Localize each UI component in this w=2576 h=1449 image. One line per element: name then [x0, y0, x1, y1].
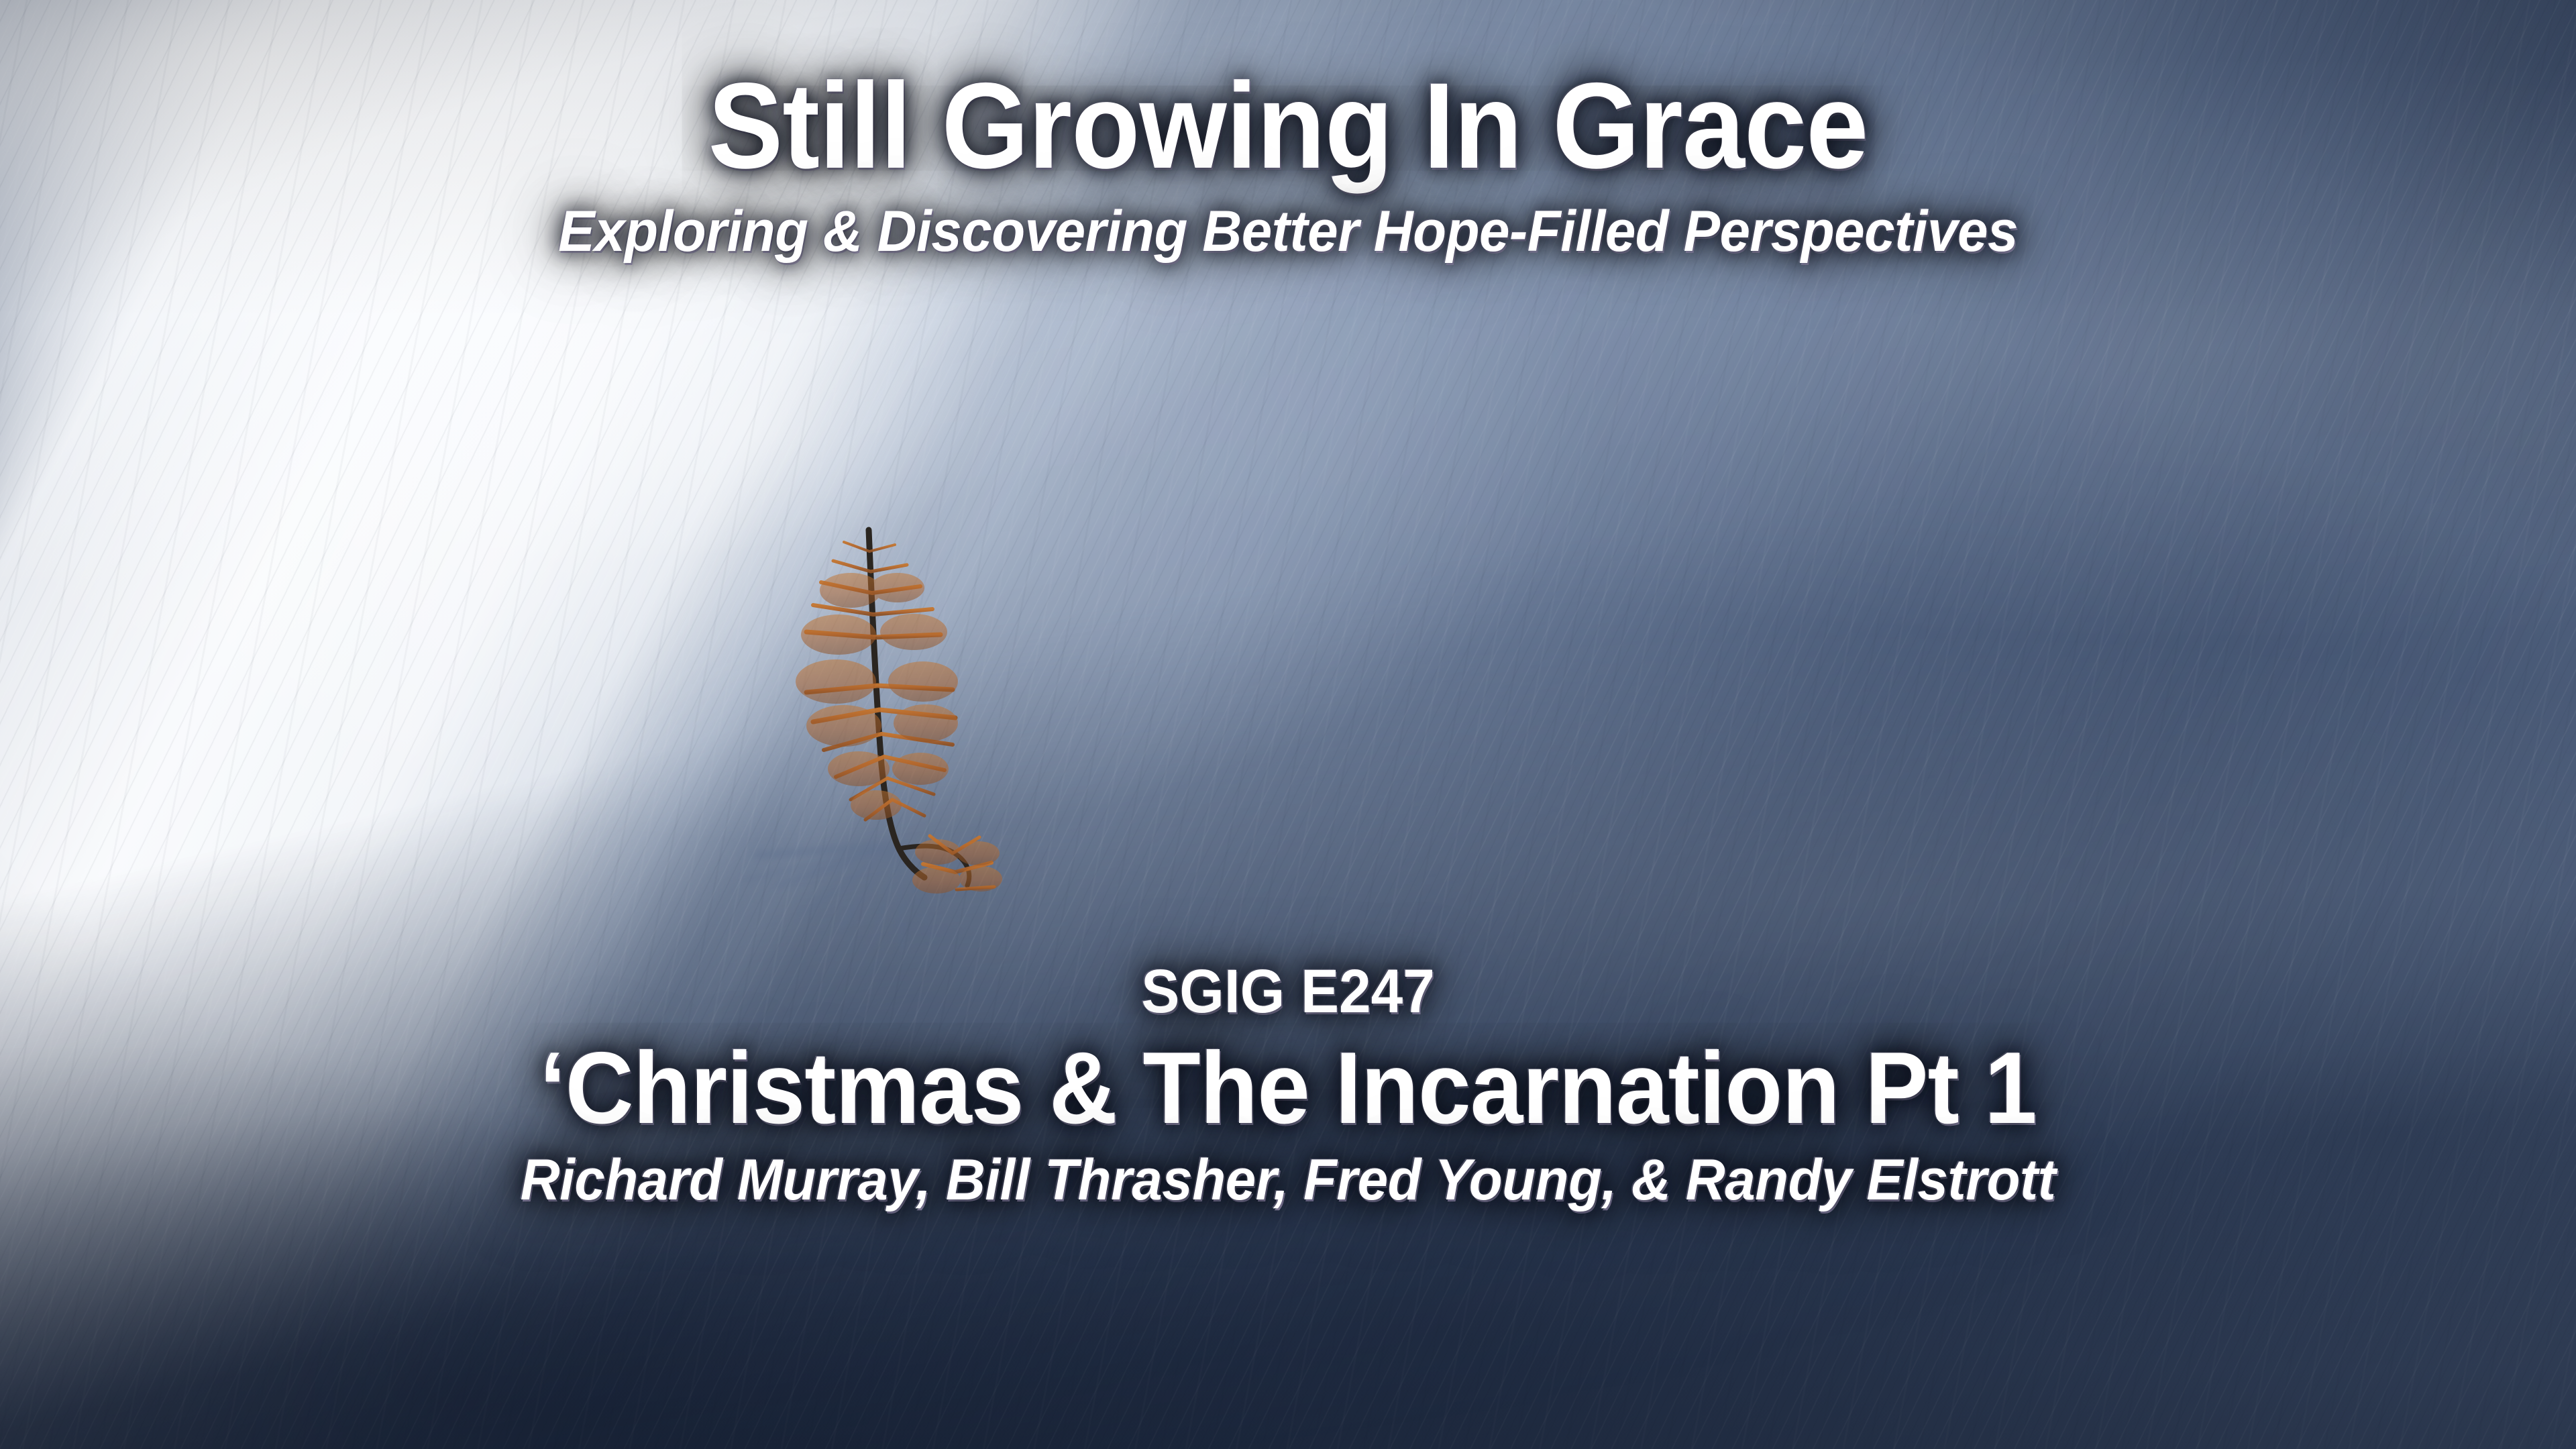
wind-striation-texture-alt: [0, 0, 2576, 1449]
page-title: Still Growing In Grace: [103, 64, 2473, 186]
title-card: Still Growing In Grace Exploring & Disco…: [0, 0, 2576, 1449]
shadowed-snow-slope: [0, 0, 2576, 1449]
sunlit-corner-flare: [0, 0, 2576, 1449]
wind-striation-texture: [0, 0, 2576, 1449]
episode-block: SGIG E247 ‘Christmas & The Incarnation P…: [0, 961, 2576, 1209]
snow-drift-swells: [0, 0, 2576, 1449]
vignette-overlay: [0, 0, 2576, 1449]
show-header: Still Growing In Grace Exploring & Disco…: [0, 64, 2576, 260]
episode-title: ‘Christmas & The Incarnation Pt 1: [90, 1037, 2485, 1139]
episode-presenters: Richard Murray, Bill Thrasher, Fred Youn…: [64, 1151, 2512, 1209]
snow-ridge-highlight: [0, 0, 2576, 1449]
show-tagline: Exploring & Discovering Better Hope-Fill…: [64, 203, 2512, 260]
larch-tree-icon: [731, 510, 1147, 979]
episode-code: SGIG E247: [90, 961, 2485, 1022]
background-base: [0, 0, 2576, 1449]
